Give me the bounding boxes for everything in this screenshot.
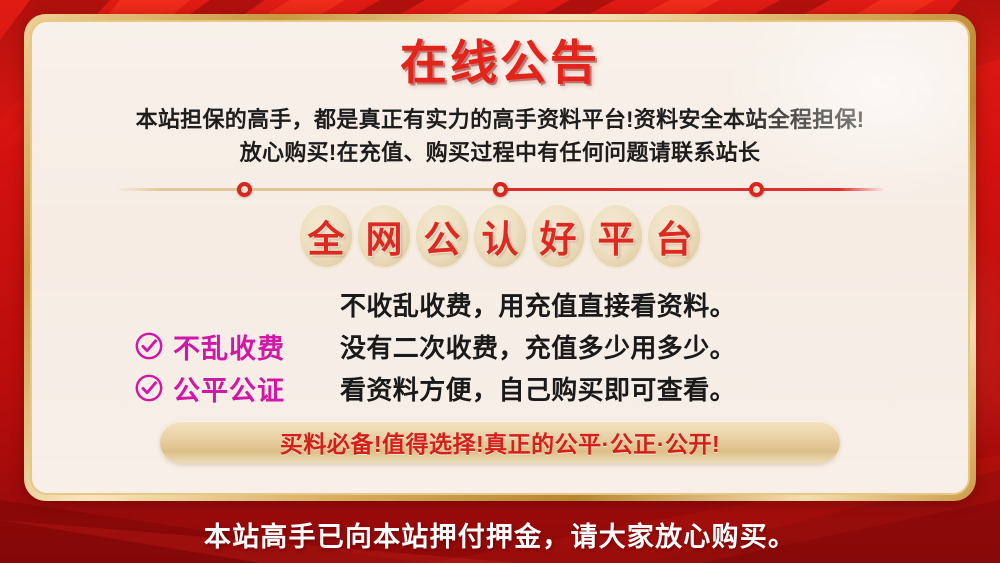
check-circle-icon xyxy=(134,373,164,403)
divider-circle-dot-icon xyxy=(493,182,508,197)
slogan-char-cell: 公 xyxy=(414,203,470,269)
page-title: 在线公告 xyxy=(32,36,968,91)
announcement-card-inner: 在线公告 本站担保的高手，都是真正有实力的高手资料平台!资料安全本站全程担保! … xyxy=(30,20,970,495)
divider-circle-dot-icon xyxy=(749,182,764,197)
feature-description: 看资料方便，自己购买即可查看。 xyxy=(340,370,736,407)
feature-row: 不收乱收费，用充值直接看资料。 xyxy=(120,283,880,325)
feature-tag-label: 公平公证 xyxy=(173,369,285,408)
feature-description: 不收乱收费，用充值直接看资料。 xyxy=(340,286,736,323)
feature-tag-label: 不乱收费 xyxy=(173,327,285,366)
feature-tag-group: 不乱收费 xyxy=(120,327,340,366)
feature-row: 不乱收费 没有二次收费，充值多少用多少。 xyxy=(120,325,880,367)
check-circle-icon xyxy=(134,331,164,361)
slogan-char-cell: 网 xyxy=(356,203,412,269)
subtitle-block: 本站担保的高手，都是真正有实力的高手资料平台!资料安全本站全程担保! 放心购买!… xyxy=(32,103,968,170)
highlight-banner-text: 买料必备!值得选择!真正的公平·公正·公开! xyxy=(280,425,720,459)
feature-list: 不收乱收费，用充值直接看资料。 不乱收费 没有二次收费，充值多少用多少。 xyxy=(120,283,880,409)
slogan-char-cell: 全 xyxy=(298,203,354,269)
bottom-notice-bar: 本站高手已向本站押付押金，请大家放心购买。 xyxy=(0,505,1000,563)
slogan-oval-row: 全 网 公 认 好 平 台 xyxy=(32,203,968,269)
subtitle-line-1: 本站担保的高手，都是真正有实力的高手资料平台!资料安全本站全程担保! xyxy=(32,103,968,136)
subtitle-line-2: 放心购买!在充值、购买过程中有任何问题请联系站长 xyxy=(32,136,968,169)
feature-tag-group: 公平公证 xyxy=(120,369,340,408)
divider-segment-left xyxy=(115,188,505,191)
bottom-notice-text: 本站高手已向本站押付押金，请大家放心购买。 xyxy=(204,515,796,554)
divider-segment-right xyxy=(505,188,885,191)
announcement-card: 在线公告 本站担保的高手，都是真正有实力的高手资料平台!资料安全本站全程担保! … xyxy=(24,14,976,501)
slogan-char-cell: 认 xyxy=(472,203,528,269)
slogan-char-cell: 平 xyxy=(588,203,644,269)
highlight-banner: 买料必备!值得选择!真正的公平·公正·公开! xyxy=(160,421,840,463)
feature-description: 没有二次收费，充值多少用多少。 xyxy=(340,328,736,365)
slogan-char-cell: 好 xyxy=(530,203,586,269)
divider xyxy=(115,181,885,197)
feature-row: 公平公证 看资料方便，自己购买即可查看。 xyxy=(120,367,880,409)
divider-circle-dot-icon xyxy=(237,182,252,197)
slogan-char-cell: 台 xyxy=(646,203,702,269)
